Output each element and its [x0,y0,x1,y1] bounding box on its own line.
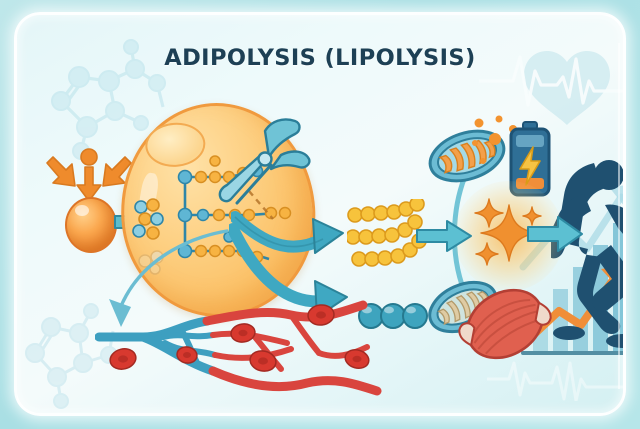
page-title: ADIPOLYSIS (LIPOLYSIS) [17,45,623,71]
panel-divider [618,43,620,389]
artery-vein-capillaries [95,299,385,403]
sphere-highlight [75,205,89,216]
lipase-scissors-icon[interactable] [215,115,311,211]
illustration-frame: ADIPOLYSIS (LIPOLYSIS) [14,12,626,416]
arrow-energy-to-activity[interactable] [526,215,584,253]
runner-silhouette [551,153,626,353]
muscle-fiber [457,283,553,365]
arrow-into-energy[interactable] [415,219,473,253]
diagram-canvas: ADIPOLYSIS (LIPOLYSIS) [0,0,640,429]
